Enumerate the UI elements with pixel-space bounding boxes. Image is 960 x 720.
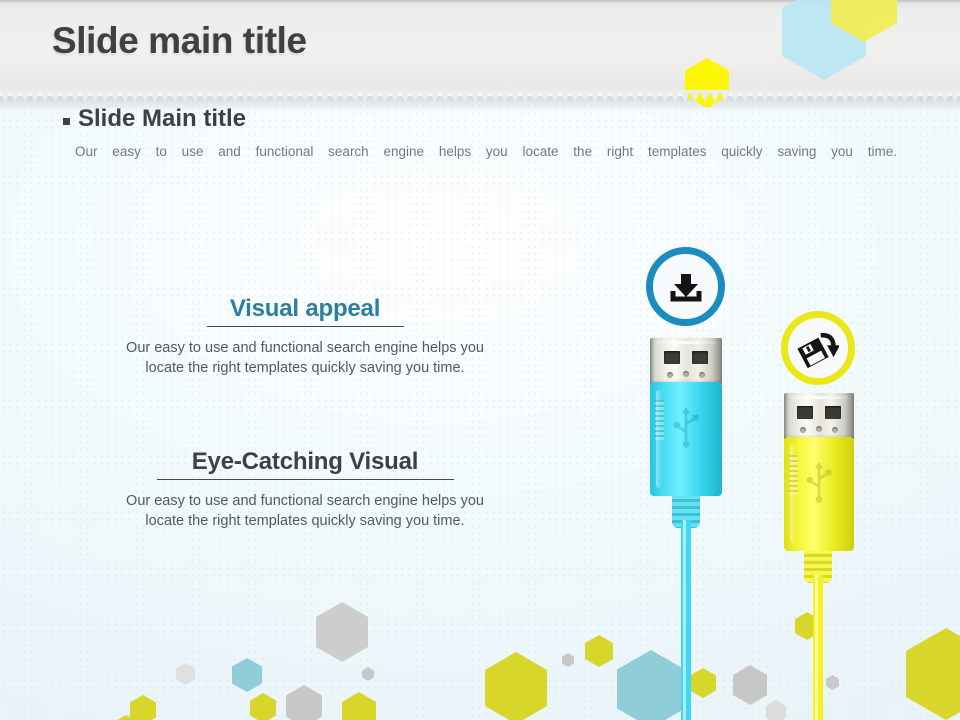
hexagon-olive-small-1: [130, 695, 156, 720]
usb-rivet-left-cyan: [667, 372, 673, 378]
hexagon-olive-small-2: [250, 693, 276, 720]
floppy-save-icon: [797, 327, 839, 369]
usb-rivet-right-cyan: [699, 372, 705, 378]
usb-rivet-mid-cyan: [683, 371, 689, 377]
block-heading-rule-1: [207, 326, 404, 327]
block-paragraph-2: Our easy to use and functional search en…: [95, 491, 515, 531]
hexagon-teal-small: [232, 658, 262, 692]
usb-grip-ribs-cyan: [655, 400, 664, 440]
block-heading-1: Visual appeal: [95, 295, 515, 323]
usb-connector-yellow: [784, 393, 854, 551]
usb-contact-slot-right-yellow: [825, 406, 841, 419]
hexagon-gray-dot-2: [562, 653, 574, 667]
hexagon-gray-mid: [286, 685, 322, 720]
hexagon-gray-large: [316, 602, 368, 662]
usb-rivet-left-yellow: [800, 427, 806, 433]
hexagon-olive-corner: [906, 628, 960, 720]
hexagon-gray-small-1: [176, 663, 195, 685]
header-zigzag-edge: [0, 90, 960, 104]
hexagon-olive-small-3: [585, 635, 613, 667]
hexagon-gray-small-2: [766, 700, 786, 720]
save-badge[interactable]: [781, 311, 855, 385]
content-block-visual-appeal: Visual appeal Our easy to use and functi…: [95, 295, 515, 378]
hexagon-gray-mid-2: [733, 665, 767, 705]
cable-yellow: [813, 575, 823, 720]
hexagon-olive-mid: [342, 692, 376, 720]
subtitle-paragraph: Our easy to use and functional search en…: [75, 143, 897, 161]
hexagon-gray-dot-1: [362, 667, 374, 681]
usb-rivet-right-yellow: [832, 427, 838, 433]
usb-metal-tip-yellow: [784, 393, 854, 439]
usb-grip-ribs-yellow: [789, 455, 798, 495]
download-icon: [666, 267, 706, 307]
cable-cyan: [681, 520, 691, 720]
block-heading-rule-2: [157, 479, 454, 480]
usb-contact-slot-right-cyan: [692, 351, 708, 364]
usb-trident-icon-cyan: [673, 404, 699, 450]
block-heading-2: Eye-Catching Visual: [95, 448, 515, 476]
usb-trident-icon-yellow: [806, 459, 832, 505]
hexagon-gray-dot-3: [826, 675, 839, 690]
usb-contact-slot-left-yellow: [797, 406, 813, 419]
hexagon-olive-large: [485, 652, 547, 720]
subtitle-bullet-icon: [63, 118, 70, 125]
usb-rivet-mid-yellow: [816, 426, 822, 432]
content-block-eye-catching: Eye-Catching Visual Our easy to use and …: [95, 448, 515, 531]
download-badge[interactable]: [646, 247, 725, 326]
usb-contact-slot-left-cyan: [664, 351, 680, 364]
slide-canvas: Slide main title Slide Main title Our ea…: [0, 0, 960, 720]
usb-metal-tip-cyan: [650, 338, 722, 384]
usb-connector-cyan: [650, 338, 722, 496]
subtitle-heading: Slide Main title: [78, 105, 246, 133]
hexagon-olive-small-4: [690, 668, 716, 698]
block-paragraph-1: Our easy to use and functional search en…: [95, 338, 515, 378]
hexagon-teal-large: [617, 650, 685, 720]
